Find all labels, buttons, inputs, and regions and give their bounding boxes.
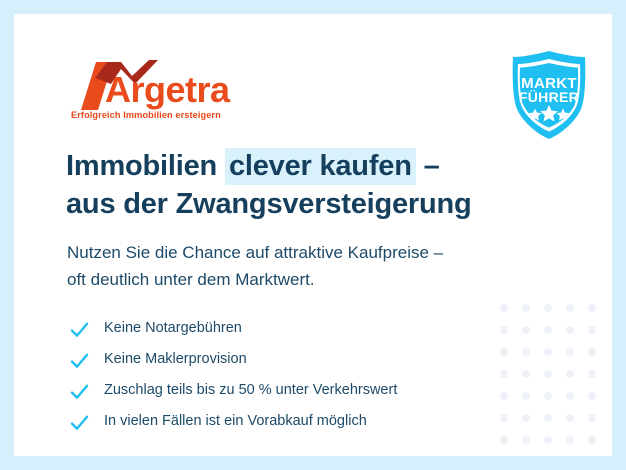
check-icon: [70, 351, 89, 368]
dot-decoration: [544, 326, 552, 334]
badge-line2: FÜHRER: [519, 89, 579, 105]
list-item: Zuschlag teils bis zu 50 % unter Verkehr…: [70, 375, 520, 406]
dot-decoration: [544, 436, 552, 444]
subtitle-line-2: oft deutlich unter dem Marktwert.: [67, 266, 567, 293]
dot-decoration: [500, 304, 508, 312]
dot-decoration: [522, 414, 530, 422]
dot-decoration: [522, 348, 530, 356]
dot-decoration: [544, 414, 552, 422]
dot-decoration: [522, 392, 530, 400]
dot-decoration: [588, 414, 596, 422]
dot-decoration: [522, 326, 530, 334]
dot-decoration: [566, 348, 574, 356]
list-item: Keine Notargebühren: [70, 313, 520, 344]
dot-decoration: [522, 370, 530, 378]
headline-line-2: aus der Zwangsversteigerung: [66, 185, 566, 223]
promo-banner: Argetra Erfolgreich Immobilien ersteiger…: [0, 0, 626, 470]
logo-tagline: Erfolgreich Immobilien ersteigern: [71, 110, 221, 120]
headline-line-1: Immobilien clever kaufen –: [66, 147, 566, 185]
check-icon: [70, 382, 89, 399]
markt-fuehrer-badge: MARKT FÜHRER: [501, 47, 597, 143]
svg-text:Argetra: Argetra: [105, 69, 231, 110]
dot-decoration: [544, 348, 552, 356]
subtitle-line-1: Nutzen Sie die Chance auf attraktive Kau…: [67, 239, 567, 266]
dot-decoration: [522, 436, 530, 444]
dot-decoration: [588, 326, 596, 334]
list-item-label: Keine Notargebühren: [104, 320, 242, 336]
dot-decoration: [588, 370, 596, 378]
list-item: Keine Maklerprovision: [70, 344, 520, 375]
dot-decoration: [566, 326, 574, 334]
dot-decoration: [566, 414, 574, 422]
argetra-roof-a-icon: Argetra: [69, 60, 269, 110]
dot-decoration: [566, 392, 574, 400]
page-title: Immobilien clever kaufen – aus der Zwang…: [66, 147, 566, 223]
headline-post: –: [416, 150, 440, 182]
dot-decoration: [500, 436, 508, 444]
list-item: In vielen Fällen ist ein Vorabkauf mögli…: [70, 406, 520, 437]
dot-decoration: [544, 370, 552, 378]
dot-decoration: [566, 370, 574, 378]
headline-highlight: clever kaufen: [225, 148, 416, 185]
dot-decoration: [544, 392, 552, 400]
list-item-label: Zuschlag teils bis zu 50 % unter Verkehr…: [104, 382, 397, 398]
list-item-label: Keine Maklerprovision: [104, 351, 247, 367]
headline-pre: Immobilien: [66, 150, 225, 182]
dot-decoration: [588, 304, 596, 312]
page-subtitle: Nutzen Sie die Chance auf attraktive Kau…: [67, 239, 567, 293]
content-card: Argetra Erfolgreich Immobilien ersteiger…: [14, 14, 612, 456]
benefits-list: Keine Notargebühren Keine Maklerprovisio…: [70, 313, 520, 437]
dot-decoration: [522, 304, 530, 312]
argetra-logo[interactable]: Argetra Erfolgreich Immobilien ersteiger…: [69, 60, 269, 122]
dot-decoration: [588, 348, 596, 356]
check-icon: [70, 320, 89, 337]
dot-decoration: [588, 436, 596, 444]
check-icon: [70, 413, 89, 430]
dot-decoration: [566, 304, 574, 312]
dot-decoration: [588, 392, 596, 400]
list-item-label: In vielen Fällen ist ein Vorabkauf mögli…: [104, 413, 367, 429]
dot-decoration: [566, 436, 574, 444]
dot-decoration: [544, 304, 552, 312]
